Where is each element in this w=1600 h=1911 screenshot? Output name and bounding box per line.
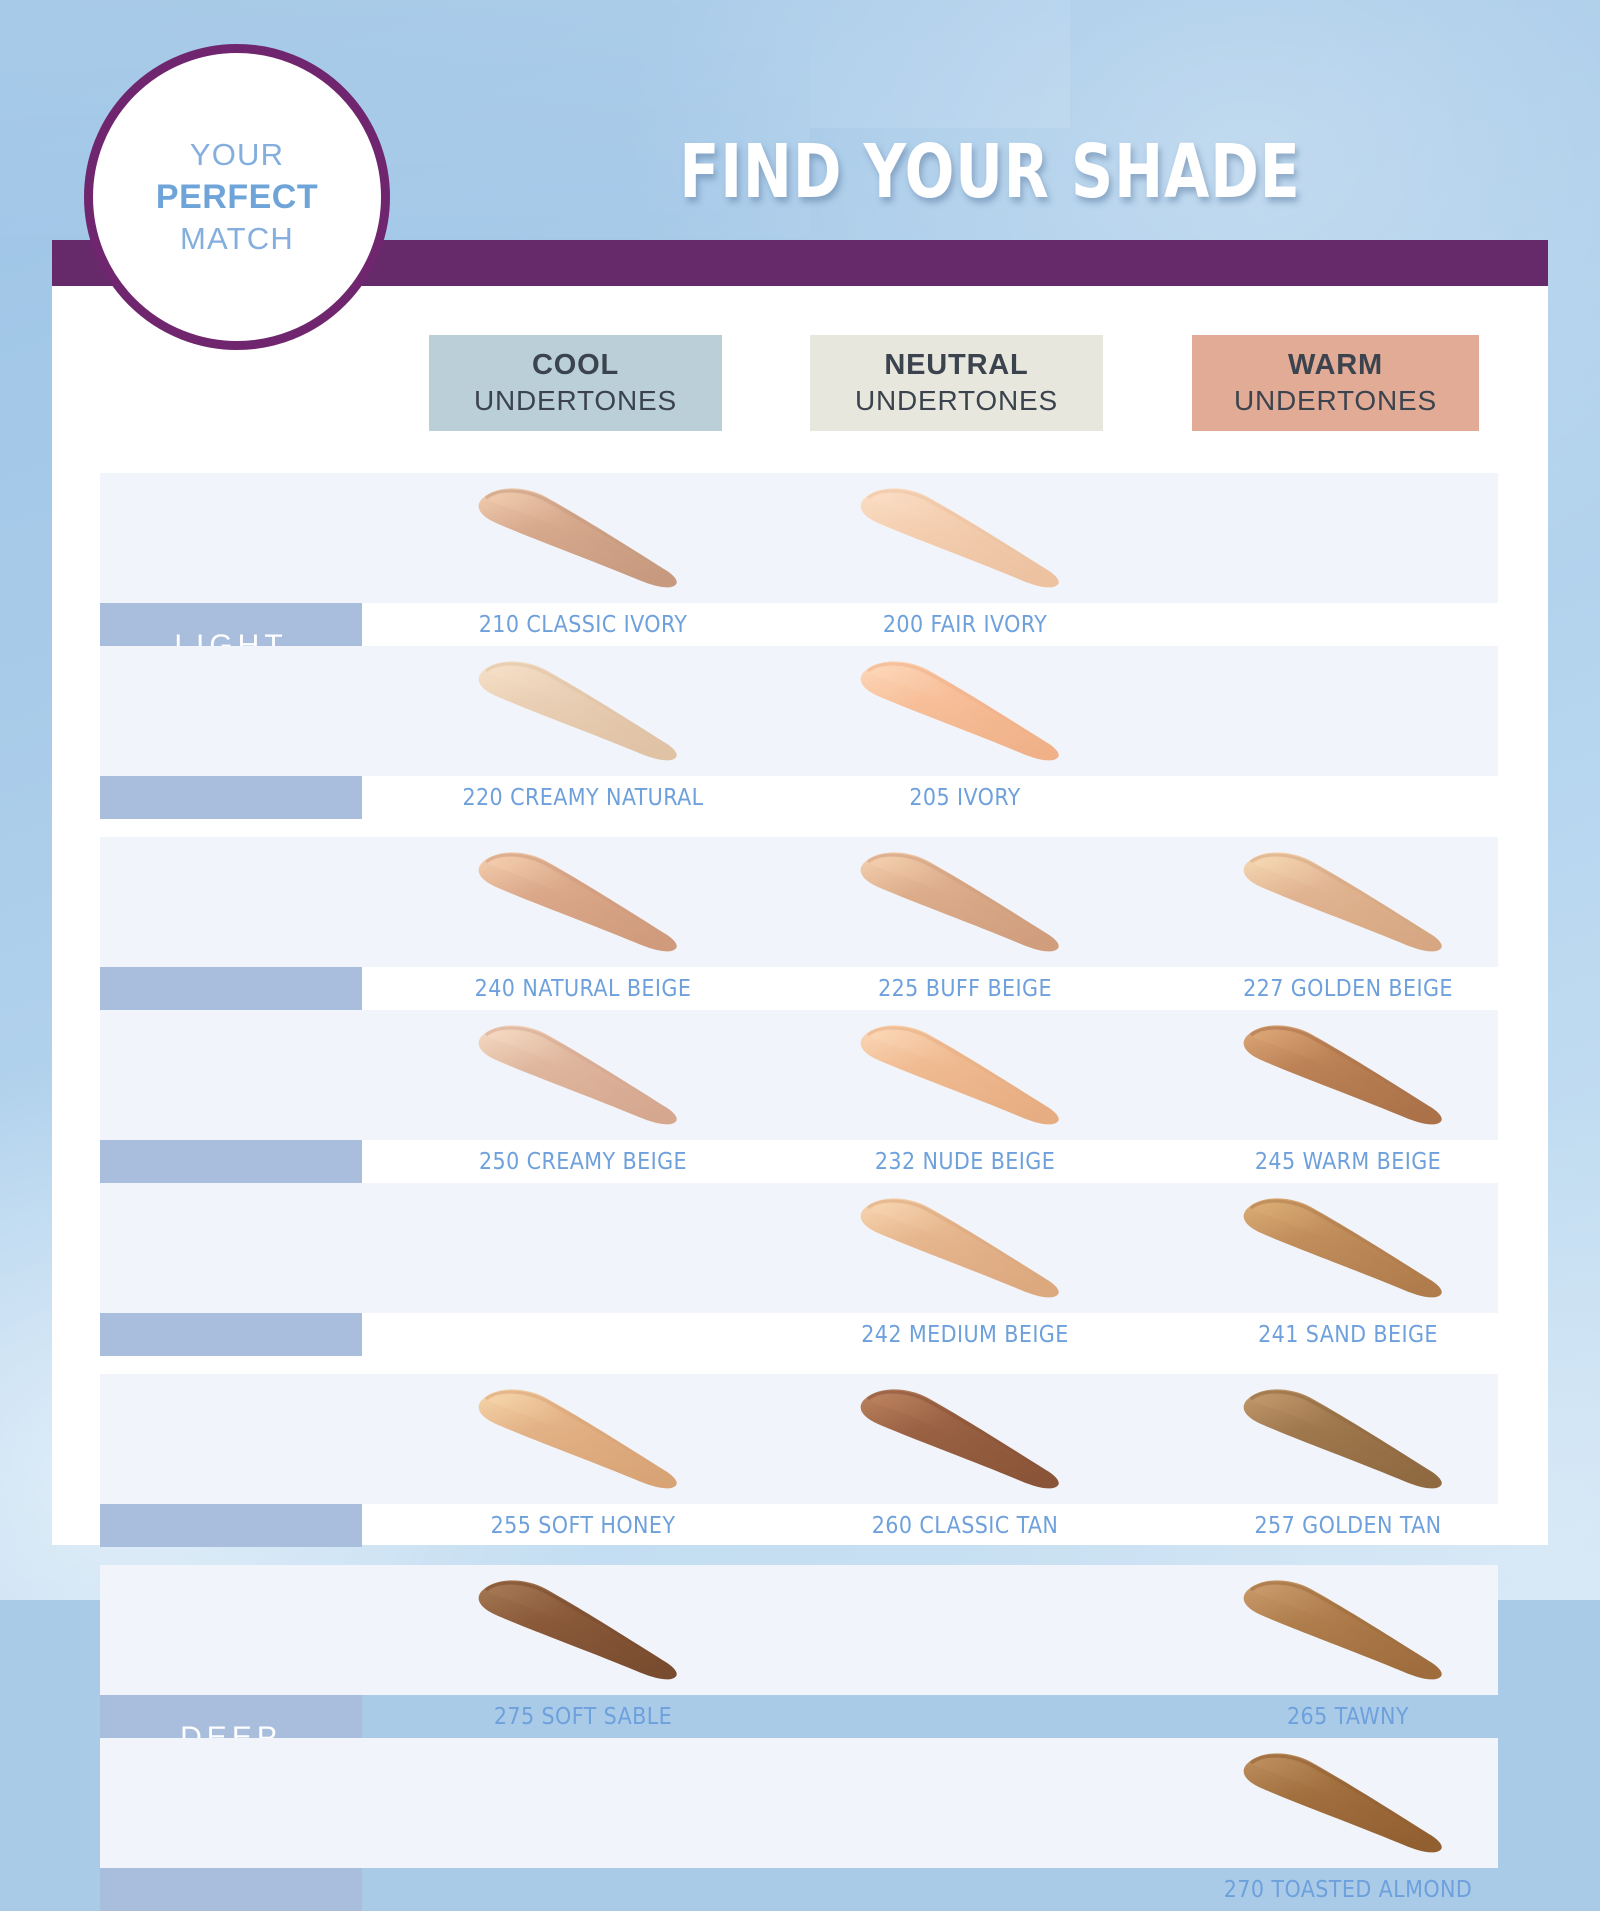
shade-swatch-graphic — [468, 656, 698, 766]
shade-swatch[interactable] — [468, 1575, 698, 1685]
shade-swatch[interactable] — [1233, 847, 1463, 957]
column-header-warm-subtitle: UNDERTONES — [1234, 384, 1437, 418]
shade-swatch[interactable] — [1233, 1193, 1463, 1303]
shade-swatch[interactable] — [1233, 1575, 1463, 1685]
shade-swatch[interactable] — [850, 1020, 1080, 1130]
shade-swatch[interactable] — [850, 847, 1080, 957]
column-header-neutral-subtitle: UNDERTONES — [855, 384, 1058, 418]
swatch-row-stripe — [100, 646, 1498, 776]
shade-swatch-graphic — [1233, 847, 1463, 957]
shade-swatch-graphic — [1233, 1575, 1463, 1685]
shade-swatch[interactable] — [850, 656, 1080, 766]
column-header-cool-subtitle: UNDERTONES — [474, 384, 677, 418]
shade-swatch[interactable] — [468, 1020, 698, 1130]
shade-swatch[interactable] — [1233, 1020, 1463, 1130]
shade-name-label: 257 GOLDEN TAN — [1198, 1513, 1498, 1539]
shade-swatch[interactable] — [468, 483, 698, 593]
shade-swatch[interactable] — [468, 1384, 698, 1494]
shade-swatch-graphic — [850, 1193, 1080, 1303]
shade-swatch-graphic — [850, 483, 1080, 593]
shade-name-label: 225 BUFF BEIGE — [815, 976, 1115, 1002]
shade-swatch-graphic — [1233, 1384, 1463, 1494]
badge-line-1: YOUR — [190, 135, 284, 175]
shade-name-label: 250 CREAMY BEIGE — [433, 1149, 733, 1175]
shade-swatch[interactable] — [850, 1384, 1080, 1494]
shade-swatch-graphic — [850, 656, 1080, 766]
shade-name-label: 242 MEDIUM BEIGE — [815, 1322, 1115, 1348]
shade-name-label: 265 TAWNY — [1198, 1704, 1498, 1730]
badge-line-2: PERFECT — [156, 175, 318, 219]
shade-swatch-graphic — [468, 847, 698, 957]
badge-line-3: MATCH — [180, 219, 294, 259]
shade-swatch-graphic — [850, 847, 1080, 957]
shade-swatch-graphic — [850, 1384, 1080, 1494]
shade-swatch-graphic — [468, 1575, 698, 1685]
column-header-cool: COOL UNDERTONES — [429, 335, 722, 431]
shade-name-label: 241 SAND BEIGE — [1198, 1322, 1498, 1348]
shade-swatch[interactable] — [468, 847, 698, 957]
shade-grid: LIGHT 210 CLASSIC IVORY — [100, 473, 1498, 1483]
column-header-warm: WARM UNDERTONES — [1192, 335, 1479, 431]
shade-name-label: 260 CLASSIC TAN — [815, 1513, 1115, 1539]
shade-name-label: 227 GOLDEN BEIGE — [1198, 976, 1498, 1002]
shade-name-label: 275 SOFT SABLE — [433, 1704, 733, 1730]
shade-swatch-graphic — [468, 1384, 698, 1494]
shade-swatch[interactable] — [850, 483, 1080, 593]
shade-swatch-graphic — [1233, 1020, 1463, 1130]
page-title-text: FIND YOUR SHADE — [679, 129, 1300, 215]
column-header-neutral: NEUTRAL UNDERTONES — [810, 335, 1103, 431]
shade-swatch-graphic — [1233, 1193, 1463, 1303]
shade-swatch-graphic — [850, 1020, 1080, 1130]
shade-swatch[interactable] — [468, 656, 698, 766]
shade-name-label: 270 TOASTED ALMOND — [1198, 1877, 1498, 1903]
shade-name-label: 240 NATURAL BEIGE — [433, 976, 733, 1002]
column-header-cool-title: COOL — [532, 348, 619, 383]
column-header-warm-title: WARM — [1288, 348, 1383, 383]
shade-name-label: 210 CLASSIC IVORY — [433, 612, 733, 638]
shade-name-label: 200 FAIR IVORY — [815, 612, 1115, 638]
shade-swatch[interactable] — [1233, 1748, 1463, 1858]
swatch-row-stripe — [100, 473, 1498, 603]
background-band-upper-right — [810, 0, 1070, 128]
shade-swatch[interactable] — [850, 1193, 1080, 1303]
shade-name-label: 205 IVORY — [815, 785, 1115, 811]
shade-swatch-graphic — [468, 483, 698, 593]
shade-swatch[interactable] — [1233, 1384, 1463, 1494]
perfect-match-badge: YOUR PERFECT MATCH — [84, 44, 390, 350]
shade-swatch-graphic — [1233, 1748, 1463, 1858]
shade-name-label: 232 NUDE BEIGE — [815, 1149, 1115, 1175]
column-header-neutral-title: NEUTRAL — [884, 348, 1028, 383]
page-title: FIND YOUR SHADE — [430, 127, 1550, 217]
shade-swatch-graphic — [468, 1020, 698, 1130]
shade-name-label: 220 CREAMY NATURAL — [433, 785, 733, 811]
shade-name-label: 255 SOFT HONEY — [433, 1513, 733, 1539]
shade-name-label: 245 WARM BEIGE — [1198, 1149, 1498, 1175]
